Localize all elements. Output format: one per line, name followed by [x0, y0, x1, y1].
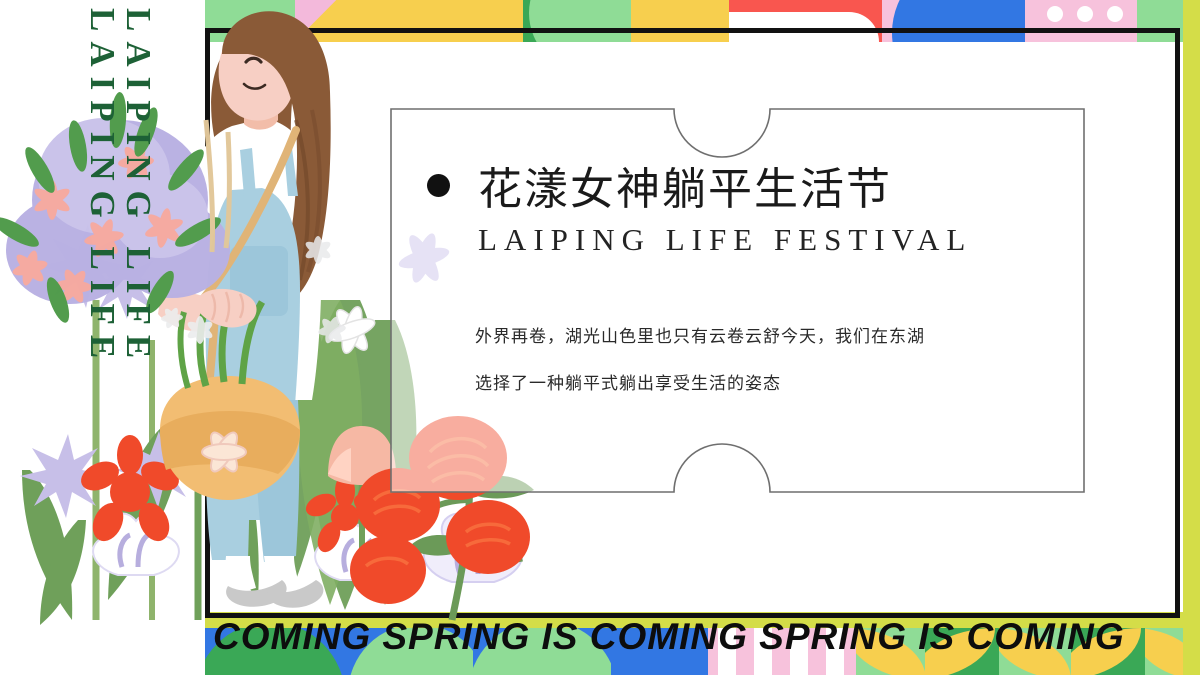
right-olive-bar	[1183, 0, 1200, 675]
decor-cell	[366, 0, 523, 42]
slide-canvas: LAIPING LIFE LAIPING LIFE 花漾女神躺平生活节 LAIP…	[0, 0, 1200, 675]
title-bullet-icon	[427, 174, 450, 197]
vertical-label-line-1: LAIPING LIFE	[118, 8, 158, 368]
page-title-cn: 花漾女神躺平生活节	[478, 153, 892, 217]
decor-cell	[729, 0, 881, 42]
body-line-2: 选择了一种躺平式躺出享受生活的姿态	[475, 360, 1075, 407]
marquee-text: COMING SPRING IS COMING SPRING IS COMING	[213, 616, 1125, 658]
decor-cell	[631, 0, 730, 42]
decor-cell	[295, 0, 367, 42]
decor-cell	[882, 0, 1025, 42]
vertical-label-line-2: LAIPING LIFE	[82, 8, 122, 368]
body-line-1: 外界再卷，湖光山色里也只有云卷云舒今天，我们在东湖	[475, 313, 1075, 360]
content-card: 花漾女神躺平生活节 LAIPING LIFE FESTIVAL 外界再卷，湖光山…	[390, 108, 1085, 493]
marquee-banner: COMING SPRING IS COMING SPRING IS COMING	[205, 612, 1200, 661]
decor-cell-dots	[1025, 0, 1137, 42]
decor-cell	[523, 0, 631, 42]
page-title-en: LAIPING LIFE FESTIVAL	[478, 222, 972, 258]
top-decor-strip	[205, 0, 1200, 42]
vertical-side-label: LAIPING LIFE LAIPING LIFE	[30, 0, 180, 440]
decor-cell	[205, 0, 295, 42]
body-paragraph: 外界再卷，湖光山色里也只有云卷云舒今天，我们在东湖 选择了一种躺平式躺出享受生活…	[475, 313, 1075, 407]
